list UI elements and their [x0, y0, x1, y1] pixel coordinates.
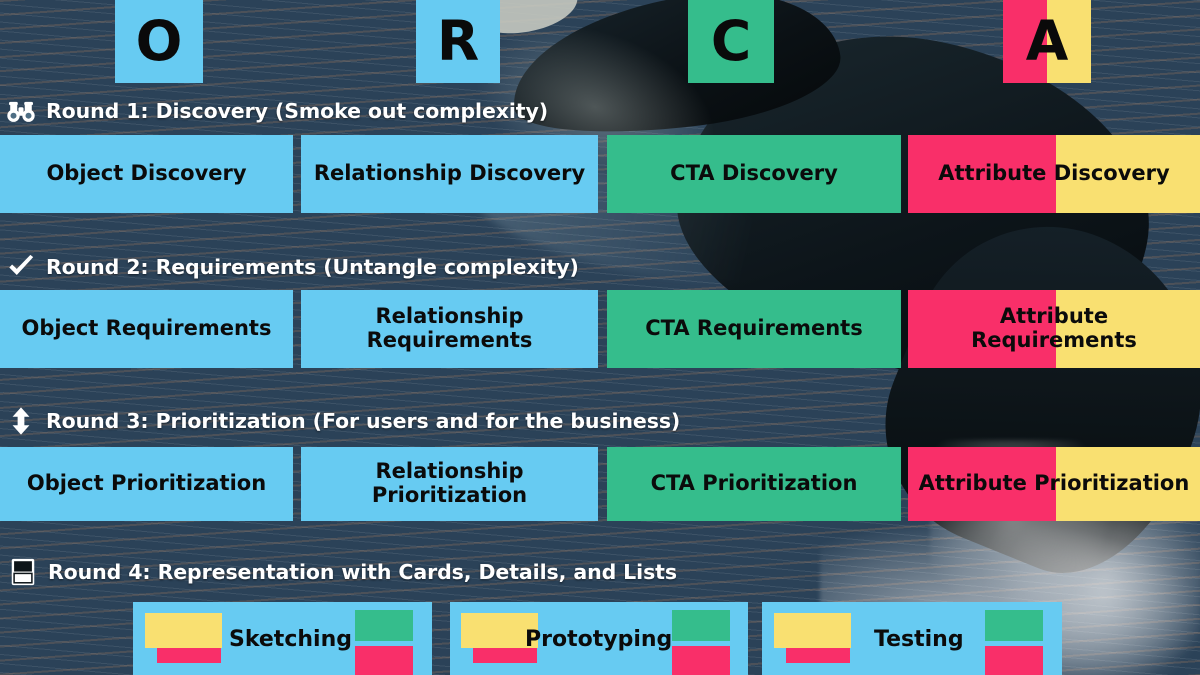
sketching-pink-swatch-right [355, 646, 413, 675]
acronym-letter-r: R [437, 14, 479, 69]
testing-pink-swatch-right [985, 646, 1043, 675]
testing-yellow-swatch [774, 613, 851, 648]
round-3-heading-text: Round 3: Prioritization (For users and f… [46, 409, 680, 433]
acronym-tile-o: O [115, 0, 203, 83]
acronym-tile-r: R [416, 0, 500, 83]
round-2-bar-object-label: Object Requirements [22, 317, 272, 341]
round-1-bar-relationship[interactable]: Relationship Discovery [301, 135, 598, 213]
round-1-bar-cta[interactable]: CTA Discovery [607, 135, 901, 213]
slide-canvas: O R C A Round 1: Discovery (Smoke out co… [0, 0, 1200, 675]
round-4-card-prototyping[interactable]: Prototyping [450, 602, 748, 675]
acronym-tile-a: A [1003, 0, 1091, 83]
round-2-bar-relationship[interactable]: Relationship Requirements [301, 290, 598, 368]
round-3-bar-relationship[interactable]: Relationship Prioritization [301, 447, 598, 521]
round-1-bar-object-label: Object Discovery [46, 162, 246, 186]
testing-green-swatch [985, 610, 1043, 641]
round-1-bar-attribute-label: Attribute Discovery [938, 162, 1169, 186]
sketching-yellow-swatch [145, 613, 222, 648]
acronym-letter-o: O [136, 14, 183, 69]
round-1-bar-attribute[interactable]: Attribute Discovery [908, 135, 1200, 213]
round-4-card-sketching-label: Sketching [229, 627, 352, 652]
round-3-bar-object-label: Object Prioritization [27, 472, 266, 496]
round-2-bar-attribute[interactable]: Attribute Requirements [908, 290, 1200, 368]
round-3-bar-cta-label: CTA Prioritization [651, 472, 858, 496]
round-3-bar-attribute[interactable]: Attribute Prioritization [908, 447, 1200, 521]
up-down-arrow-icon [6, 406, 36, 436]
round-2-header: Round 2: Requirements (Untangle complexi… [6, 252, 579, 282]
round-3-bar-cta[interactable]: CTA Prioritization [607, 447, 901, 521]
round-2-heading-text: Round 2: Requirements (Untangle complexi… [46, 255, 579, 279]
round-4-card-prototyping-label: Prototyping [525, 627, 672, 652]
round-3-bar-relationship-label: Relationship Prioritization [307, 460, 592, 507]
round-4-header: Round 4: Representation with Cards, Deta… [8, 557, 677, 587]
round-2-bar-attribute-label: Attribute Requirements [914, 305, 1194, 352]
acronym-letter-c: C [711, 14, 751, 69]
round-2-bar-relationship-label: Relationship Requirements [307, 305, 592, 352]
round-2-bar-cta[interactable]: CTA Requirements [607, 290, 901, 368]
round-4-card-testing[interactable]: Testing [762, 602, 1062, 675]
round-4-card-testing-label: Testing [874, 627, 964, 652]
acronym-letter-a: A [1026, 14, 1069, 69]
round-3-bar-object[interactable]: Object Prioritization [0, 447, 293, 521]
prototyping-pink-swatch-right [672, 646, 730, 675]
round-3-bar-attribute-label: Attribute Prioritization [919, 472, 1190, 496]
round-1-bar-cta-label: CTA Discovery [670, 162, 838, 186]
round-3-header: Round 3: Prioritization (For users and f… [6, 406, 680, 436]
round-2-bar-object[interactable]: Object Requirements [0, 290, 293, 368]
round-1-bar-relationship-label: Relationship Discovery [314, 162, 585, 186]
round-1-header: Round 1: Discovery (Smoke out complexity… [6, 96, 548, 126]
sketching-green-swatch [355, 610, 413, 641]
round-2-bar-cta-label: CTA Requirements [645, 317, 862, 341]
checkmark-icon [6, 252, 36, 282]
round-4-heading-text: Round 4: Representation with Cards, Deta… [48, 560, 677, 584]
round-1-heading-text: Round 1: Discovery (Smoke out complexity… [46, 99, 548, 123]
round-1-bar-object[interactable]: Object Discovery [0, 135, 293, 213]
prototyping-green-swatch [672, 610, 730, 641]
card-layout-icon [8, 557, 38, 587]
round-4-card-sketching[interactable]: Sketching [133, 602, 432, 675]
acronym-tile-c: C [688, 0, 774, 83]
binoculars-icon [6, 96, 36, 126]
